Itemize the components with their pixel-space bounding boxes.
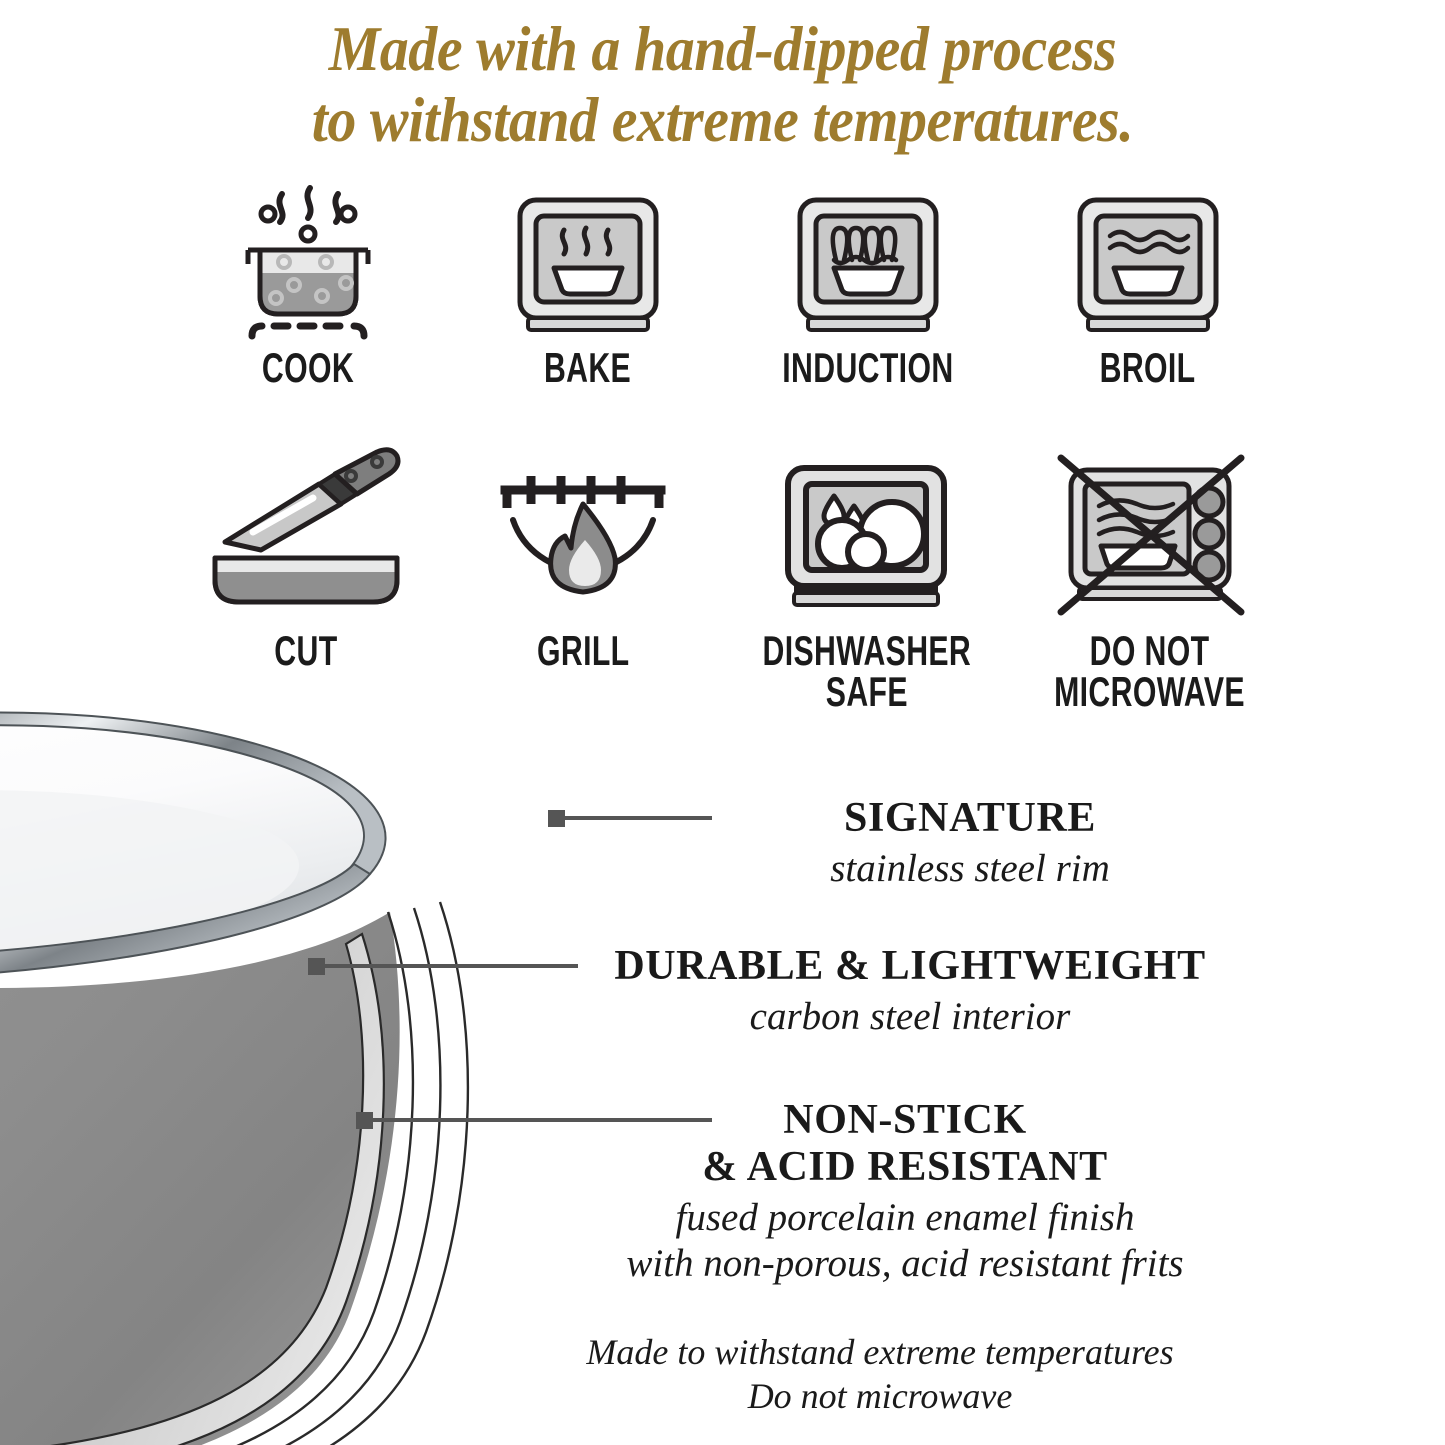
infographic-canvas: Made with a hand-dipped process to withs…: [0, 0, 1445, 1445]
induction-oven-icon: [778, 178, 958, 343]
broil-oven-icon: [1058, 178, 1238, 343]
callout-non-stick-subtitle: fused porcelain enamel finish with non-p…: [470, 1195, 1340, 1287]
do-not-microwave-icon: [1045, 446, 1255, 626]
callout-signature-title: SIGNATURE: [600, 795, 1340, 842]
icon-label-cook: COOK: [262, 347, 354, 388]
icon-label-do-not-microwave: DO NOT MICROWAVE: [1054, 630, 1245, 712]
callout-durable-title: DURABLE & LIGHTWEIGHT: [475, 943, 1345, 990]
icon-cell-induction: INDUCTION: [728, 178, 1008, 388]
page-title: Made with a hand-dipped process to withs…: [58, 14, 1387, 156]
icon-label-broil: BROIL: [1100, 347, 1196, 388]
callout-signature-subtitle: stainless steel rim: [600, 846, 1340, 892]
callout-durable: DURABLE & LIGHTWEIGHT carbon steel inter…: [475, 943, 1345, 1040]
grill-flame-icon: [483, 446, 683, 626]
icon-row-1: COOK BA: [168, 178, 1288, 388]
callout-non-stick: NON-STICK & ACID RESISTANT fused porcela…: [470, 1097, 1340, 1287]
callout-durable-subtitle: carbon steel interior: [475, 994, 1345, 1040]
icon-label-dishwasher-safe: DISHWASHER SAFE: [762, 630, 971, 712]
icon-cell-do-not-microwave: DO NOT MICROWAVE: [1011, 446, 1288, 712]
icon-cell-cook: COOK: [168, 178, 448, 388]
dishwasher-safe-icon: [766, 446, 966, 626]
callout-signature: SIGNATURE stainless steel rim: [600, 795, 1340, 892]
icon-label-bake: BAKE: [544, 347, 631, 388]
cook-pot-icon: [218, 178, 398, 343]
icon-cell-dishwasher-safe: DISHWASHER SAFE: [722, 446, 1012, 712]
cut-knife-icon: [201, 446, 411, 626]
bake-oven-icon: [498, 178, 678, 343]
footnote-care-text: Made to withstand extreme temperatures D…: [470, 1331, 1290, 1419]
icon-label-induction: INDUCTION: [782, 347, 953, 388]
callout-non-stick-title: NON-STICK & ACID RESISTANT: [470, 1097, 1340, 1191]
icon-cell-bake: BAKE: [448, 178, 728, 388]
icon-cell-broil: BROIL: [1008, 178, 1288, 388]
